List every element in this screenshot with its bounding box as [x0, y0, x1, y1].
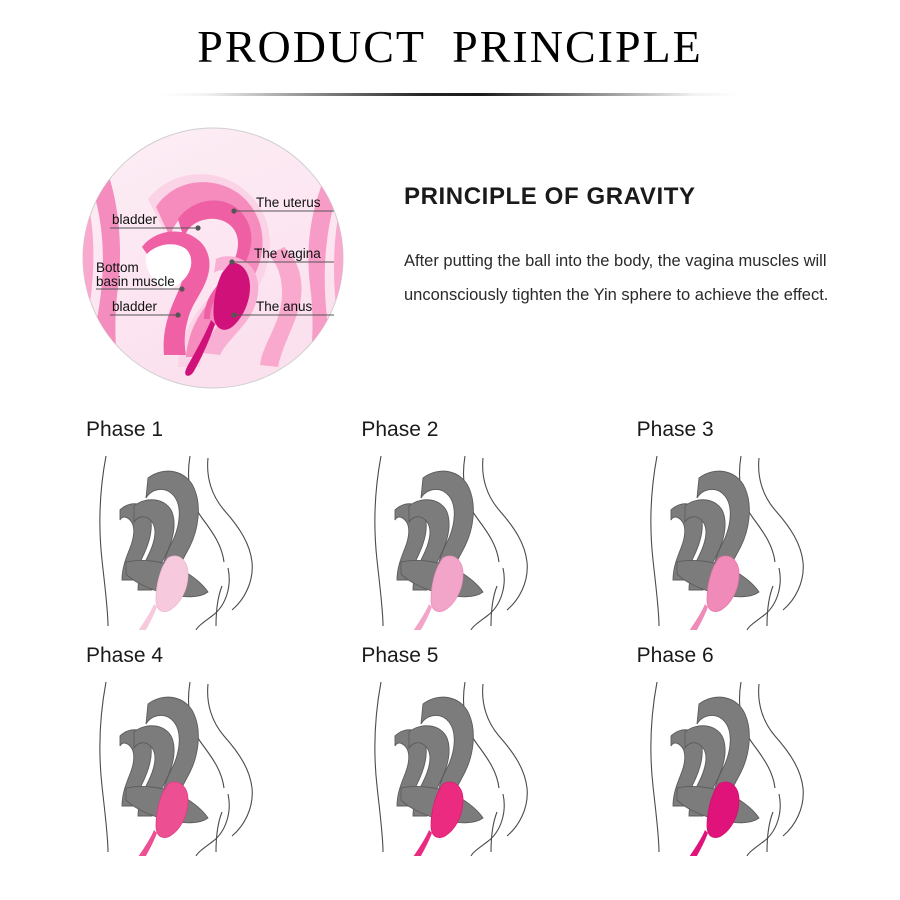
- product-principle-infographic: PRODUCT PRINCIPLE: [0, 0, 900, 900]
- gravity-heading: PRINCIPLE OF GRAVITY: [404, 183, 864, 211]
- label-uterus: The uterus: [256, 195, 321, 210]
- page-title: PRODUCT PRINCIPLE: [0, 22, 900, 73]
- label-bottom-basin-muscle-line2: basin muscle: [96, 274, 175, 289]
- label-vagina: The vagina: [254, 246, 321, 261]
- phase-cell-3: Phase 3: [633, 418, 900, 630]
- phase-label-6: Phase 6: [637, 644, 900, 668]
- phase-label-3: Phase 3: [637, 418, 900, 442]
- phase-label-5: Phase 5: [361, 644, 624, 668]
- page-header: PRODUCT PRINCIPLE: [0, 22, 900, 73]
- phase-illustration-5: [357, 676, 587, 856]
- phase-illustration-6: [633, 676, 863, 856]
- label-anus: The anus: [256, 299, 313, 314]
- phase-illustration-2: [357, 450, 587, 630]
- phase-cell-1: Phase 1: [82, 418, 349, 630]
- phase-grid: Phase 1: [0, 418, 900, 856]
- phase-cell-4: Phase 4: [82, 644, 349, 856]
- phase-label-2: Phase 2: [361, 418, 624, 442]
- phase-illustration-3: [633, 450, 863, 630]
- phase-row-2: Phase 4: [0, 644, 900, 856]
- phase-cell-2: Phase 2: [357, 418, 624, 630]
- label-bladder-top: bladder: [112, 212, 158, 227]
- gravity-paragraph: After putting the ball into the body, th…: [404, 245, 842, 313]
- shape-left-wall: [82, 167, 93, 389]
- phase-label-1: Phase 1: [86, 418, 349, 442]
- gravity-text-block: PRINCIPLE OF GRAVITY After putting the b…: [404, 183, 864, 313]
- label-bottom-basin-muscle-line1: Bottom: [96, 260, 139, 275]
- phase-illustration-1: [82, 450, 312, 630]
- phase-cell-5: Phase 5: [357, 644, 624, 856]
- anatomy-circle-diagram: The uterus The vagina The anus bladder: [82, 127, 344, 389]
- shape-right-wall: [334, 171, 344, 389]
- phase-cell-6: Phase 6: [633, 644, 900, 856]
- title-divider: [160, 93, 740, 96]
- phase-row-1: Phase 1: [0, 418, 900, 630]
- phase-illustration-4: [82, 676, 312, 856]
- phase-label-4: Phase 4: [86, 644, 349, 668]
- label-bladder-bottom: bladder: [112, 299, 158, 314]
